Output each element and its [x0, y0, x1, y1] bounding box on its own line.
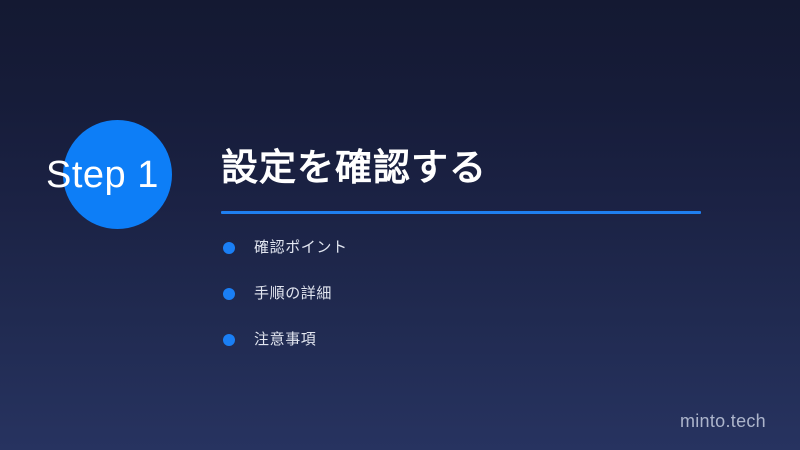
step-label: Step 1	[46, 152, 206, 198]
list-item-label: 確認ポイント	[254, 236, 348, 259]
bullet-dot-icon	[223, 242, 235, 254]
step-badge: Step 1	[0, 0, 210, 450]
list-item-label: 手順の詳細	[254, 282, 332, 305]
bullet-list: 確認ポイント 手順の詳細 注意事項	[221, 236, 721, 351]
list-item: 注意事項	[221, 328, 721, 351]
list-item-label: 注意事項	[254, 328, 316, 351]
bullet-dot-icon	[223, 334, 235, 346]
page-title: 設定を確認する	[221, 142, 721, 194]
bullet-dot-icon	[223, 288, 235, 300]
slide-content: 設定を確認する 確認ポイント 手順の詳細 注意事項	[221, 142, 721, 374]
watermark: minto.tech	[680, 411, 766, 432]
slide-canvas: Step 1 設定を確認する 確認ポイント 手順の詳細 注意事項 minto.t…	[0, 0, 800, 450]
list-item: 確認ポイント	[221, 236, 721, 259]
list-item: 手順の詳細	[221, 282, 721, 305]
title-divider	[221, 211, 701, 214]
